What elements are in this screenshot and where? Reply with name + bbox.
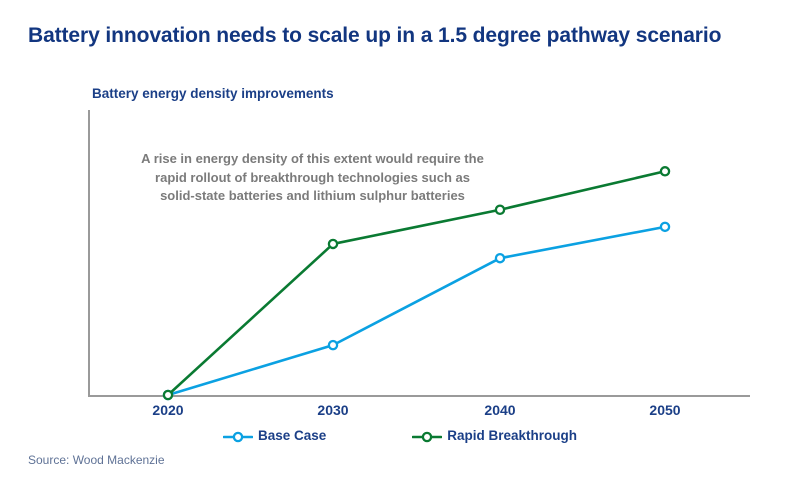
data-point-marker <box>496 254 504 262</box>
series-base-case <box>164 223 669 399</box>
series-rapid-breakthrough <box>164 167 669 399</box>
series-line <box>168 227 665 395</box>
source-note: Source: Wood Mackenzie <box>28 453 165 467</box>
legend-marker-icon <box>412 430 442 442</box>
chart-plot <box>0 0 800 480</box>
data-point-marker <box>329 341 337 349</box>
chart-page: Battery innovation needs to scale up in … <box>0 0 800 480</box>
legend-marker-icon <box>223 430 253 442</box>
legend-item-base-case[interactable]: Base Case <box>223 428 326 443</box>
legend-label: Base Case <box>258 428 326 443</box>
legend-label: Rapid Breakthrough <box>447 428 577 443</box>
chart-legend: Base CaseRapid Breakthrough <box>0 428 800 443</box>
series-line <box>168 171 665 395</box>
data-point-marker <box>661 223 669 231</box>
data-point-marker <box>164 391 172 399</box>
data-point-marker <box>661 167 669 175</box>
data-point-marker <box>329 240 337 248</box>
legend-item-rapid-breakthrough[interactable]: Rapid Breakthrough <box>412 428 577 443</box>
data-point-marker <box>496 206 504 214</box>
